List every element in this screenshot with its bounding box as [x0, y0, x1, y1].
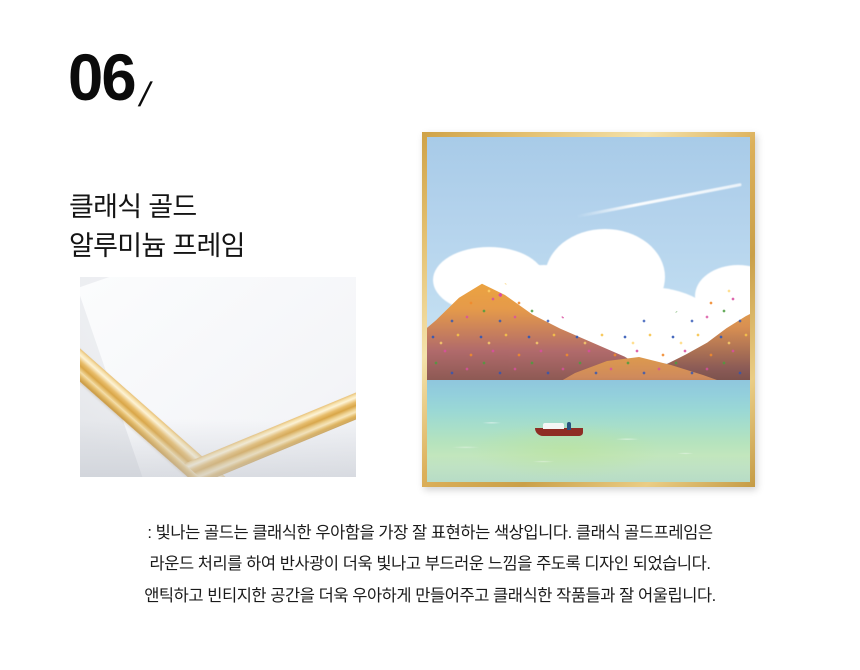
boat	[535, 421, 583, 436]
boat-person	[567, 422, 571, 430]
boat-hull	[535, 428, 583, 436]
water-shimmer	[427, 380, 750, 482]
section-number-slash: /	[140, 78, 151, 112]
painting-canvas	[427, 137, 750, 482]
page-title: 클래식 골드 알루미늄 프레임	[69, 188, 245, 265]
description-text: : 빛나는 골드는 클래식한 우아함을 가장 잘 표현하는 색상입니다. 클래식…	[0, 518, 860, 612]
description-line-3: 앤틱하고 빈티지한 공간을 더욱 우아하게 만들어주고 클래식한 작품들과 잘 …	[0, 581, 860, 612]
section-number-value: 06	[68, 44, 135, 110]
description-line-2: 라운드 처리를 하여 반사광이 더욱 빛나고 부드러운 느낌을 주도록 디자인 …	[0, 549, 860, 580]
frame-corner-photo	[80, 277, 356, 477]
section-number: 06 /	[68, 44, 150, 112]
boat-canopy	[543, 423, 564, 429]
description-line-1: : 빛나는 골드는 클래식한 우아함을 가장 잘 표현하는 색상입니다. 클래식…	[0, 518, 860, 549]
framed-artwork	[422, 132, 755, 487]
photo-shadow	[80, 419, 356, 477]
page-title-line-1: 클래식 골드	[69, 188, 245, 226]
page-title-line-2: 알루미늄 프레임	[69, 227, 245, 265]
